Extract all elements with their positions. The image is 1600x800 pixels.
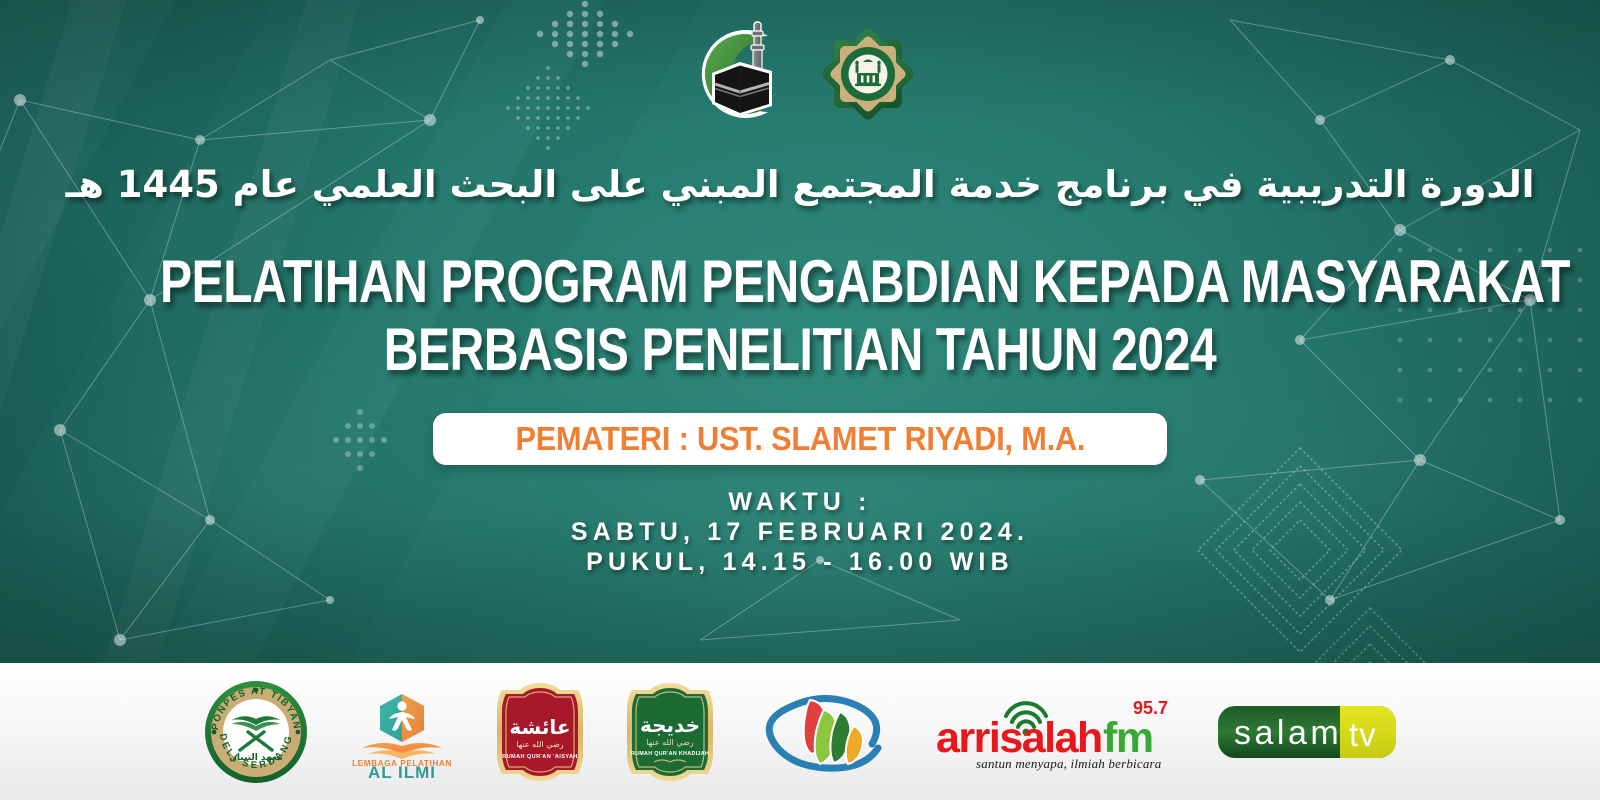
arabic-heading: الدورة التدريبية في برنامج خدمة المجتمع … — [0, 163, 1600, 206]
sponsor-logo-bar: PONPES AT TIBYAN DELI SERDANG معهد التب — [0, 663, 1600, 800]
arrisalah-frequency: 95.7 — [1133, 698, 1168, 718]
event-banner: الدورة التدريبية في برنامج خدمة المجتمع … — [0, 0, 1600, 800]
header-logo-row — [0, 16, 1600, 131]
speaker-label: PEMATERI : UST. SLAMET RIYADI, M.A. — [515, 420, 1085, 458]
schedule-label: WAKTU : — [0, 488, 1600, 517]
arrisalah-tagline: santun menyapa, ilmiah berbicara — [976, 756, 1162, 771]
khadijah-arabic-name: خديجة — [640, 713, 700, 737]
ponpes-at-tibyan-logo: PONPES AT TIBYAN DELI SERDANG معهد التب — [202, 678, 310, 786]
page-title-line2: BERBASIS PENELITIAN TAHUN 2024 — [160, 320, 1440, 380]
tv-word: tv — [1349, 716, 1377, 753]
arrisalah-brand-text: arrisalah — [936, 714, 1102, 762]
schedule-hours: PUKUL, 14.15 - 16.00 WIB — [0, 548, 1600, 577]
speaker-badge: PEMATERI : UST. SLAMET RIYADI, M.A. — [433, 413, 1167, 465]
khadijah-latin-text: RUMAH QUR'AN KHADIJAH — [631, 751, 709, 757]
salam-tv-logo: salam tv — [1216, 700, 1398, 764]
al-ilmi-big-text: AL ILMI — [368, 763, 436, 778]
rumah-quran-khadijah-logo: خديجة رضي الله عنها RUMAH QUR'AN KHADIJA… — [624, 680, 716, 784]
page-title-line1: PELATIHAN PROGRAM PENGABDIAN KEPADA MASY… — [160, 252, 1440, 312]
ministry-emblem-logo — [820, 26, 916, 122]
arrisalah-fm-logo: arrisalah fm 95.7 santun menyapa, ilmiah… — [928, 688, 1178, 776]
rumah-quran-aisyah-logo: عائشة رضي الله عنها RUMAH QUR'AN 'AISYAH — [494, 680, 586, 784]
khadijah-arabic-sub: رضي الله عنها — [646, 738, 693, 747]
kaaba-crescent-logo — [684, 18, 796, 130]
schedule-date: SABTU, 17 FEBRUARI 2024. — [0, 518, 1600, 547]
al-ilmi-logo: LEMBAGA PELATIHAN AL ILMI — [348, 686, 456, 778]
aisyah-latin-text: RUMAH QUR'AN 'AISYAH — [502, 754, 578, 760]
aisyah-arabic-name: عائشة — [509, 715, 570, 739]
salam-word: salam — [1234, 714, 1342, 752]
ponpes-arabic-text: معهد التبيان — [229, 753, 282, 763]
aisyah-arabic-sub: رضي الله عنها — [516, 740, 563, 749]
arrisalah-fm-text: fm — [1103, 714, 1153, 762]
butterfly-swoosh-logo — [754, 684, 890, 780]
